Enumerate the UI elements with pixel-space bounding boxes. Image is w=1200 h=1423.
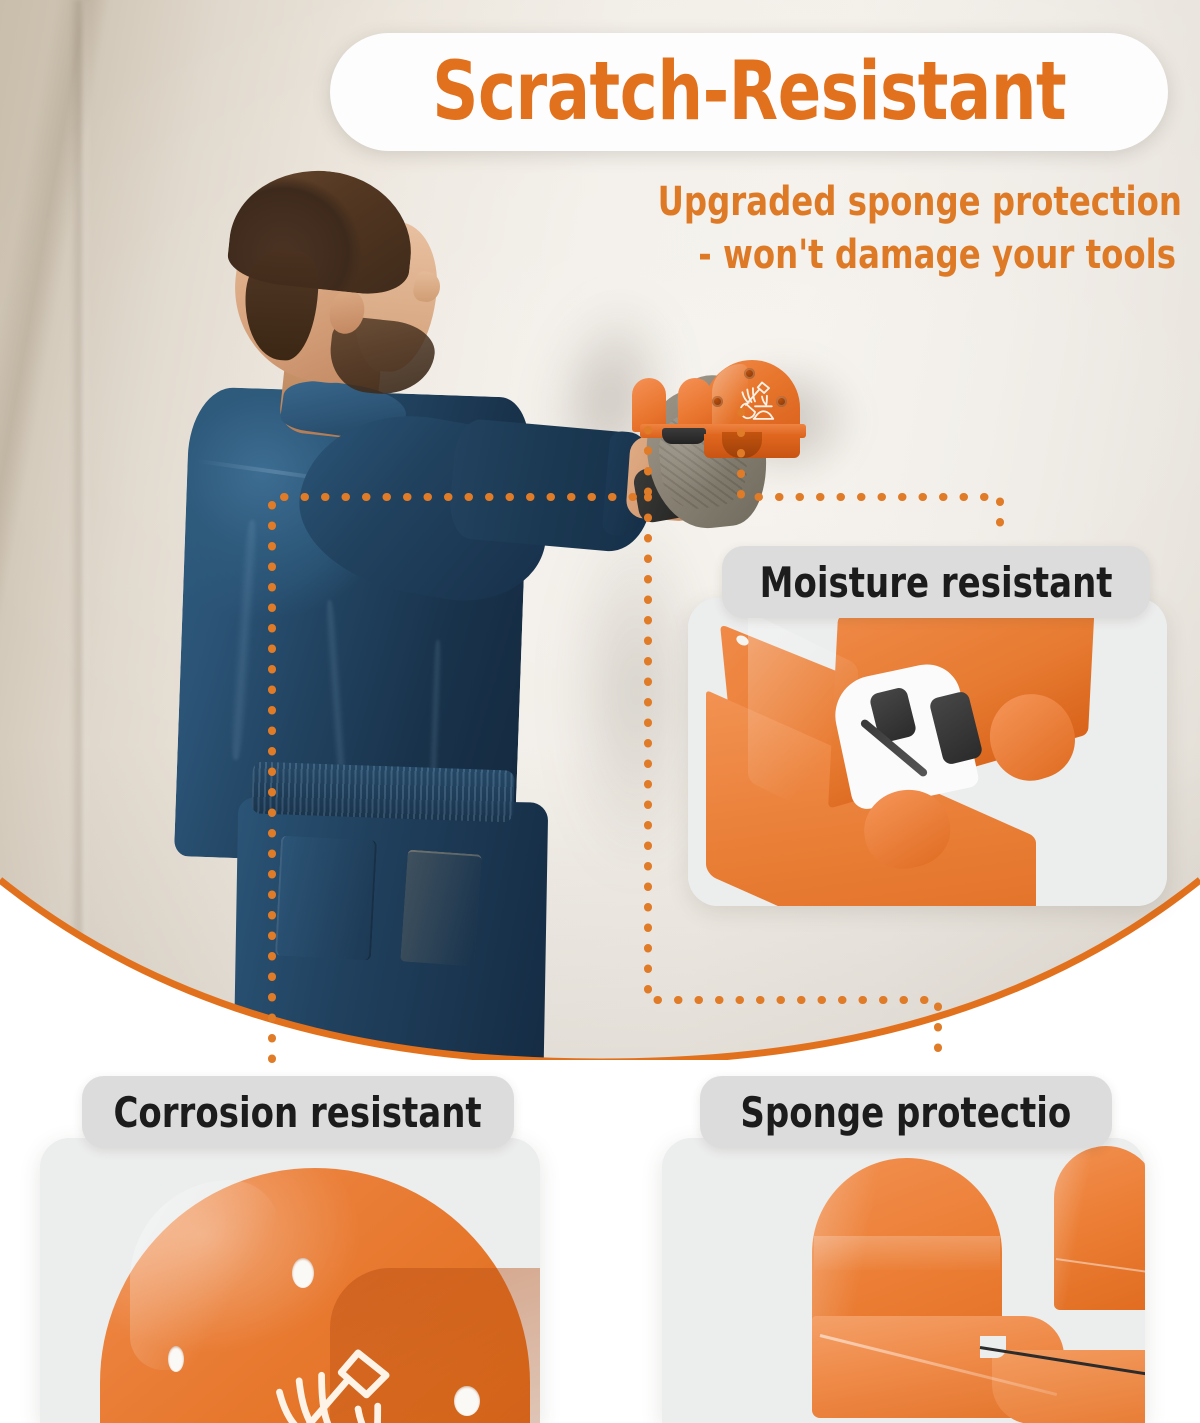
corrosion-product-photo: [40, 1138, 540, 1423]
screw-hole: [454, 1386, 480, 1416]
hook-arch-tab: [1054, 1146, 1145, 1310]
title-pill: Scratch-Resistant: [330, 33, 1168, 151]
sponge-product-photo: [662, 1138, 1145, 1423]
shovel-in-soil-icon: [240, 1336, 420, 1423]
subtitle: Upgraded sponge protection - won't damag…: [600, 176, 1176, 282]
callout-label-sponge: Sponge protectio: [741, 1088, 1072, 1137]
callout-label-corrosion: Corrosion resistant: [114, 1088, 482, 1137]
callout-badge-moisture: Moisture resistant: [722, 546, 1150, 618]
moisture-product-photo: [688, 598, 1167, 906]
subtitle-line-2: - won't damage your tools: [658, 229, 1176, 282]
callout-badge-corrosion: Corrosion resistant: [82, 1076, 514, 1148]
screw-hole: [168, 1346, 184, 1372]
callout-badge-sponge: Sponge protectio: [700, 1076, 1112, 1148]
subtitle-line-1: Upgraded sponge protection: [658, 176, 1176, 229]
page-title: Scratch-Resistant: [432, 52, 1066, 133]
tab-reflection-band: [814, 1236, 1000, 1270]
screw-hole: [292, 1258, 314, 1288]
callout-label-moisture: Moisture resistant: [760, 558, 1113, 607]
callout-card-sponge: [662, 1138, 1145, 1423]
callout-card-corrosion: [40, 1138, 540, 1423]
callout-card-moisture: [688, 598, 1167, 906]
infographic-root: Scratch-Resistant Upgraded sponge protec…: [0, 0, 1200, 1423]
